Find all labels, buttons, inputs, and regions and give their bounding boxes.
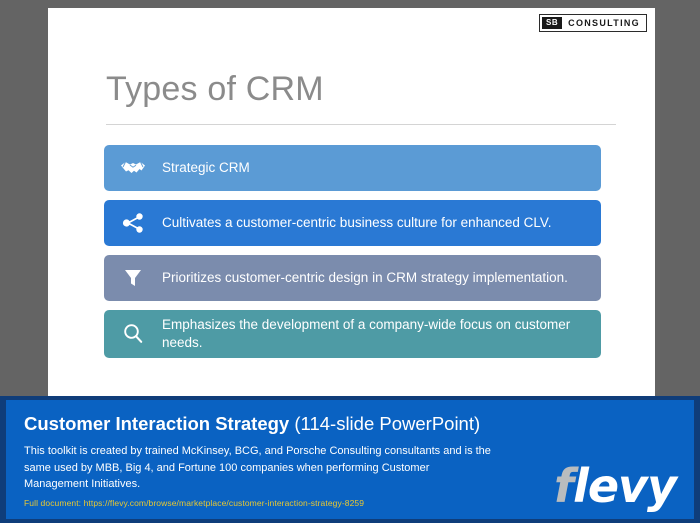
list-item-label: Prioritizes customer-centric design in C… <box>162 269 601 287</box>
promo-description: This toolkit is created by trained McKin… <box>24 443 494 492</box>
promo-inner: Customer Interaction Strategy (114-slide… <box>6 400 694 519</box>
list-item[interactable]: Prioritizes customer-centric design in C… <box>104 255 601 301</box>
magnifier-icon <box>104 322 162 346</box>
logo-mark: SB <box>542 17 562 29</box>
list-item[interactable]: Strategic CRM <box>104 145 601 191</box>
promo-title-light: (114-slide PowerPoint) <box>289 413 480 434</box>
page-title: Types of CRM <box>106 70 324 109</box>
logo-wordmark: CONSULTING <box>568 19 640 28</box>
title-divider <box>106 124 616 125</box>
flevy-logo-rest: levy <box>573 459 676 513</box>
list-item-label: Cultivates a customer-centric business c… <box>162 214 601 232</box>
list-item[interactable]: Emphasizes the development of a company-… <box>104 310 601 358</box>
funnel-filter-icon <box>104 266 162 290</box>
crm-type-list: Strategic CRM Cultivates a customer-cent… <box>104 145 601 367</box>
share-network-icon <box>104 212 162 234</box>
slide-canvas: SB CONSULTING Types of CRM Strategic CRM <box>48 8 655 397</box>
flevy-logo-f: f <box>554 459 573 513</box>
handshake-icon <box>104 158 162 178</box>
promo-title: Customer Interaction Strategy (114-slide… <box>24 414 676 434</box>
promo-title-strong: Customer Interaction Strategy <box>24 413 289 434</box>
list-item-label: Emphasizes the development of a company-… <box>162 316 601 352</box>
flevy-promo-banner: Customer Interaction Strategy (114-slide… <box>0 396 700 523</box>
sb-consulting-logo: SB CONSULTING <box>539 14 647 32</box>
list-item-label: Strategic CRM <box>162 159 601 177</box>
list-item[interactable]: Cultivates a customer-centric business c… <box>104 200 601 246</box>
flevy-logo: flevy <box>554 463 676 509</box>
